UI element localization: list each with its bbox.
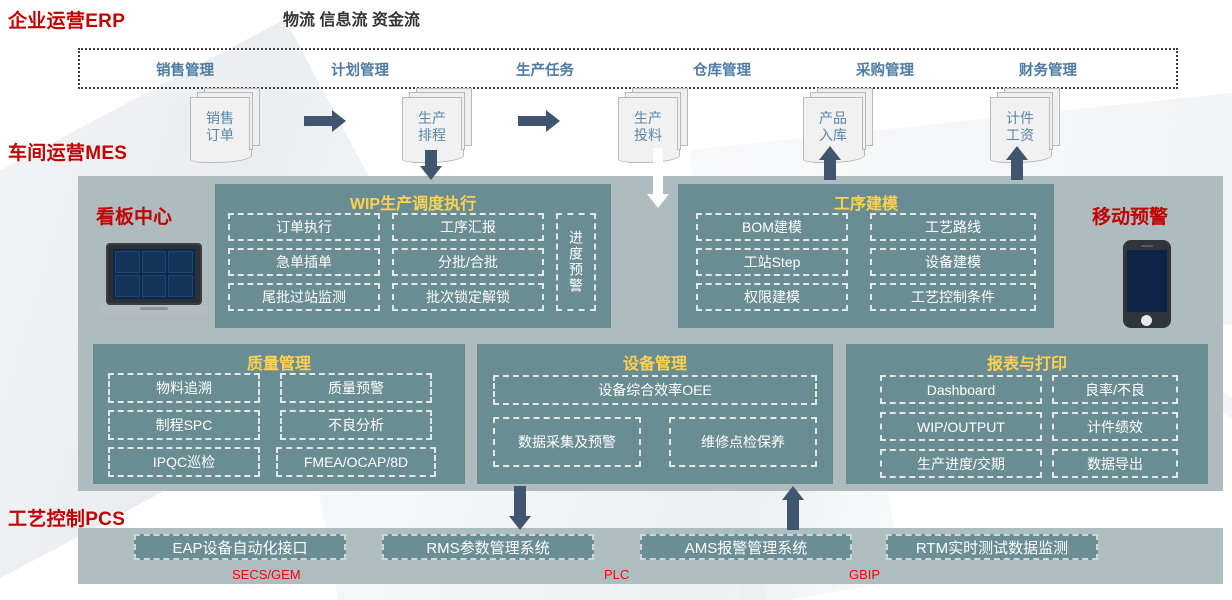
arrow-right-plan-to-task bbox=[518, 110, 562, 132]
chip-material-traceability[interactable]: 物料追溯 bbox=[108, 373, 260, 403]
pcs-chip-eap[interactable]: EAP设备自动化接口 bbox=[134, 534, 346, 560]
chip-fmea-ocap-8d[interactable]: FMEA/OCAP/8D bbox=[276, 447, 436, 477]
group-equipment-management: 设备管理 设备综合效率OEE 数据采集及预警 维修点检保养 bbox=[477, 344, 833, 484]
arrow-down-issue-to-mes bbox=[647, 148, 669, 210]
laptop-icon bbox=[100, 243, 210, 315]
chip-production-progress-delivery[interactable]: 生产进度/交期 bbox=[880, 449, 1042, 478]
chip-process-spc[interactable]: 制程SPC bbox=[108, 410, 260, 440]
mobile-alert-label: 移动预警 bbox=[1092, 202, 1168, 229]
erp-column-label-sales: 销售管理 bbox=[100, 59, 270, 80]
chip-process-report[interactable]: 工序汇报 bbox=[392, 213, 544, 241]
arrow-up-wage-from-mes bbox=[1006, 146, 1028, 180]
group-title: 工序建模 bbox=[678, 190, 1054, 214]
arrow-down-mes-to-pcs bbox=[509, 486, 531, 530]
group-title: WIP生产调度执行 bbox=[215, 190, 611, 214]
doc-line-1: 生产 bbox=[634, 110, 662, 126]
protocol-gbip: GBIP bbox=[849, 567, 880, 582]
phone-icon bbox=[1123, 240, 1173, 330]
chip-piecework-performance[interactable]: 计件绩效 bbox=[1052, 412, 1178, 441]
chip-yield-defect[interactable]: 良率/不良 bbox=[1052, 375, 1178, 404]
doc-line-1: 产品 bbox=[819, 110, 847, 126]
kanban-center-label: 看板中心 bbox=[96, 202, 172, 229]
chip-urgent-order-insert[interactable]: 急单插单 bbox=[228, 248, 380, 276]
doc-line-2: 排程 bbox=[418, 127, 446, 143]
pcs-chip-rms[interactable]: RMS参数管理系统 bbox=[382, 534, 594, 560]
group-title: 报表与打印 bbox=[846, 350, 1208, 374]
diagram-canvas: 企业运营ERP 车间运营MES 工艺控制PCS 物流 信息流 资金流 销售管理 … bbox=[0, 0, 1232, 600]
protocol-plc: PLC bbox=[604, 567, 629, 582]
chip-split-merge-lot[interactable]: 分批/合批 bbox=[392, 248, 544, 276]
pcs-chip-ams[interactable]: AMS报警管理系统 bbox=[640, 534, 852, 560]
chip-wip-output[interactable]: WIP/OUTPUT bbox=[880, 412, 1042, 441]
arrow-right-sales-to-plan bbox=[304, 110, 348, 132]
arrow-down-schedule-to-mes bbox=[420, 150, 442, 180]
chip-permission-modeling[interactable]: 权限建模 bbox=[696, 283, 848, 311]
chip-maintenance-inspection[interactable]: 维修点检保养 bbox=[669, 417, 817, 467]
erp-column-label-warehouse: 仓库管理 bbox=[637, 59, 807, 80]
erp-column-label-purchasing: 采购管理 bbox=[800, 59, 970, 80]
erp-column-label-finance: 财务管理 bbox=[963, 59, 1133, 80]
chip-data-collection-alert[interactable]: 数据采集及预警 bbox=[493, 417, 641, 467]
chip-station-step[interactable]: 工站Step bbox=[696, 248, 848, 276]
group-title: 质量管理 bbox=[93, 350, 465, 374]
chip-order-execution[interactable]: 订单执行 bbox=[228, 213, 380, 241]
doc-line-2: 工资 bbox=[1006, 127, 1034, 143]
arrow-up-inbound-from-mes bbox=[819, 146, 841, 180]
group-wip-scheduling: WIP生产调度执行 订单执行 急单插单 尾批过站监测 工序汇报 分批/合批 批次… bbox=[215, 184, 611, 328]
group-title: 设备管理 bbox=[477, 350, 833, 374]
doc-line-2: 入库 bbox=[819, 127, 847, 143]
chip-tail-lot-monitor[interactable]: 尾批过站监测 bbox=[228, 283, 380, 311]
chip-dashboard[interactable]: Dashboard bbox=[880, 375, 1042, 404]
chip-process-route[interactable]: 工艺路线 bbox=[870, 213, 1036, 241]
doc-line-1: 计件 bbox=[1006, 110, 1034, 126]
chip-progress-alert[interactable]: 进度预警 bbox=[556, 213, 596, 311]
erp-column-label-production: 生产任务 bbox=[460, 59, 630, 80]
chip-quality-alert[interactable]: 质量预警 bbox=[280, 373, 432, 403]
flow-caption: 物流 信息流 资金流 bbox=[283, 6, 420, 30]
arrow-up-pcs-to-mes bbox=[782, 486, 804, 530]
chip-oee[interactable]: 设备综合效率OEE bbox=[493, 375, 817, 405]
group-process-modeling: 工序建模 BOM建模 工站Step 权限建模 工艺路线 设备建模 工艺控制条件 bbox=[678, 184, 1054, 328]
erp-column-label-planning: 计划管理 bbox=[275, 59, 445, 80]
doc-line-2: 订单 bbox=[206, 127, 234, 143]
doc-line-1: 销售 bbox=[206, 110, 234, 126]
group-reports-printing: 报表与打印 Dashboard WIP/OUTPUT 生产进度/交期 良率/不良… bbox=[846, 344, 1208, 484]
pcs-chip-rtm[interactable]: RTM实时测试数据监测 bbox=[886, 534, 1098, 560]
chip-equipment-modeling[interactable]: 设备建模 bbox=[870, 248, 1036, 276]
group-quality-management: 质量管理 物料追溯 制程SPC IPQC巡检 质量预警 不良分析 FMEA/OC… bbox=[93, 344, 465, 484]
section-title-pcs: 工艺控制PCS bbox=[8, 504, 125, 531]
doc-line-1: 生产 bbox=[418, 110, 446, 126]
doc-line-2: 投料 bbox=[634, 127, 662, 143]
chip-defect-analysis[interactable]: 不良分析 bbox=[280, 410, 432, 440]
chip-bom-modeling[interactable]: BOM建模 bbox=[696, 213, 848, 241]
protocol-secs-gem: SECS/GEM bbox=[232, 567, 301, 582]
chip-lot-lock-unlock[interactable]: 批次锁定解锁 bbox=[392, 283, 544, 311]
chip-ipqc-inspection[interactable]: IPQC巡检 bbox=[108, 447, 260, 477]
chip-data-export[interactable]: 数据导出 bbox=[1052, 449, 1178, 478]
section-title-erp: 企业运营ERP bbox=[8, 6, 125, 33]
chip-process-control-condition[interactable]: 工艺控制条件 bbox=[870, 283, 1036, 311]
section-title-mes: 车间运营MES bbox=[8, 138, 127, 165]
